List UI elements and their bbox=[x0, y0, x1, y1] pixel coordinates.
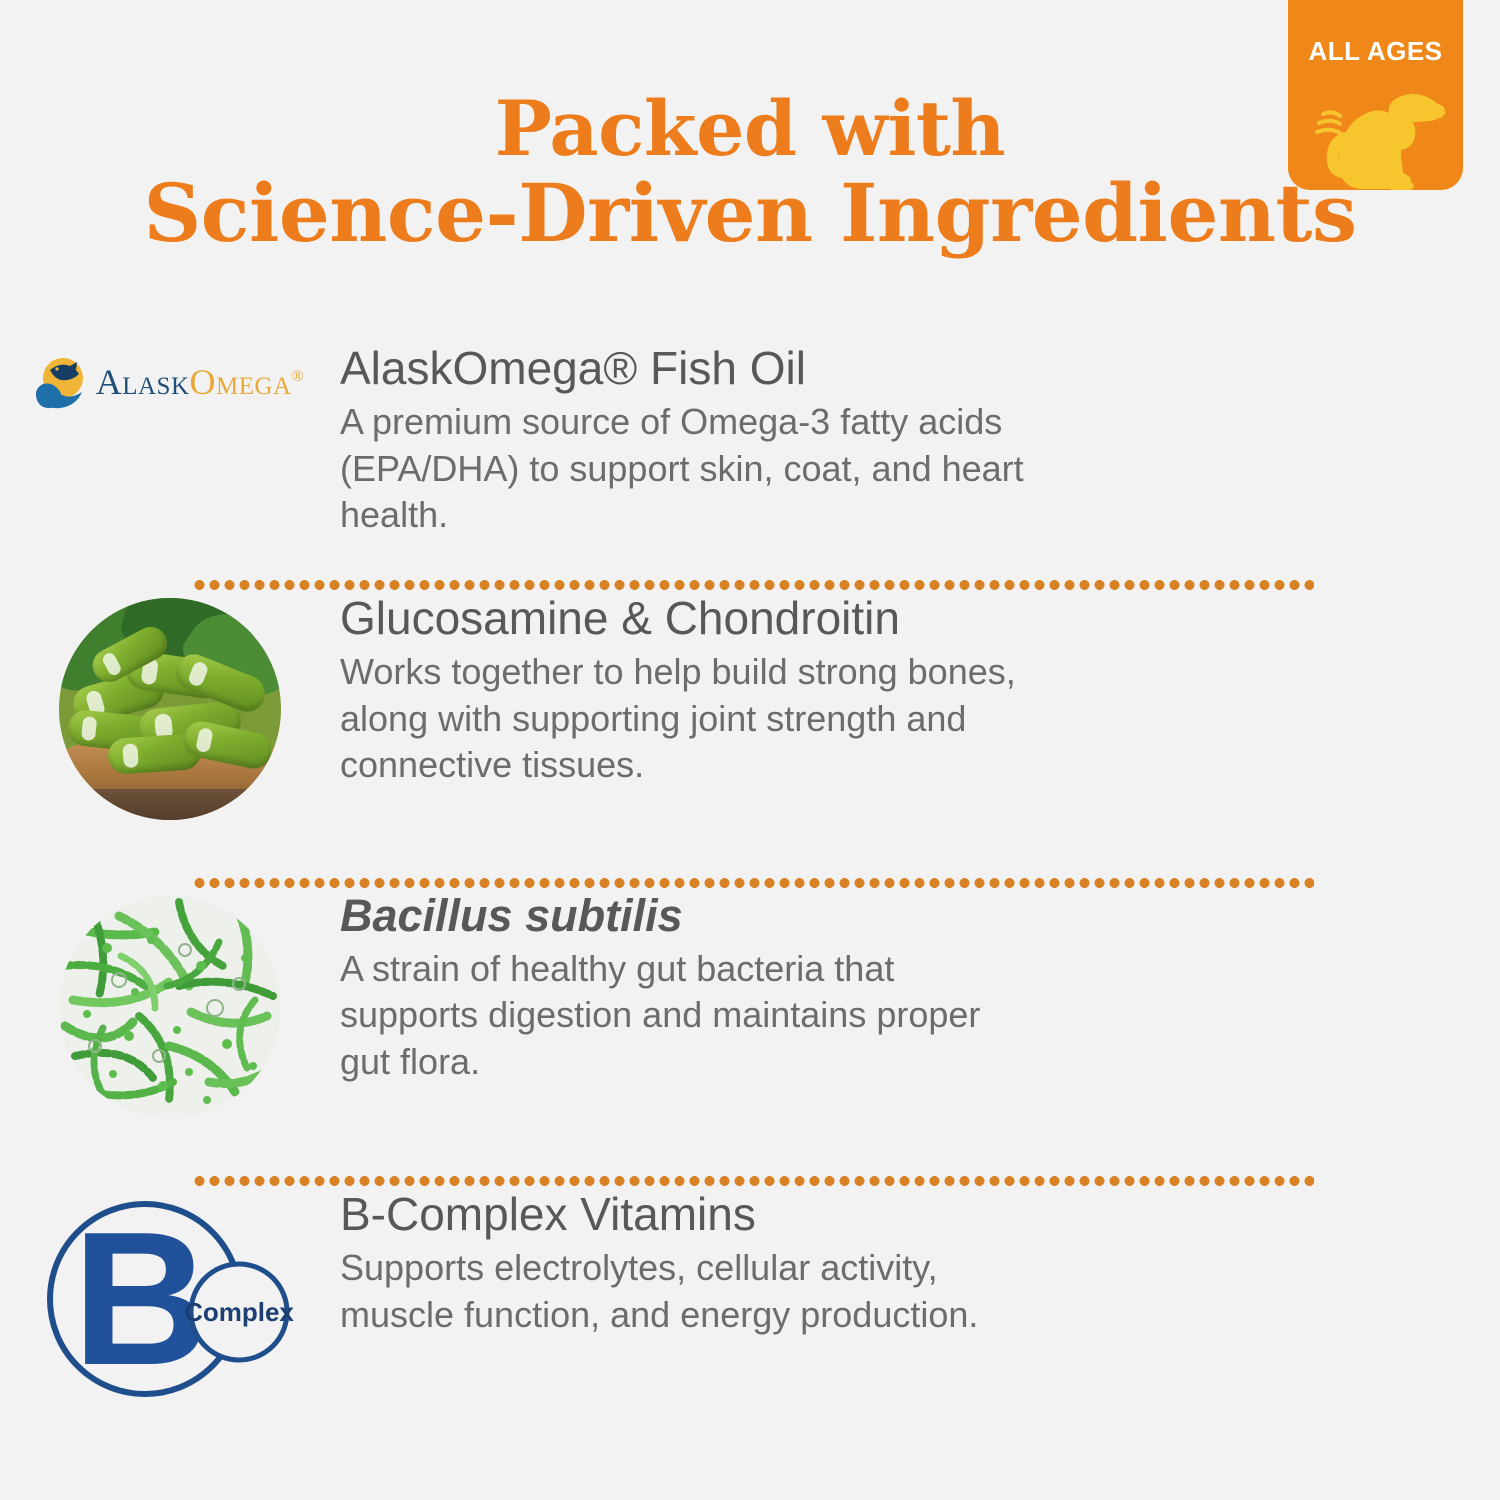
alaskomega-wordmark: AlaskOmega® bbox=[96, 364, 305, 400]
ingredient-title: Bacillus subtilis bbox=[340, 892, 1060, 940]
ingredient-text-cell: B-Complex Vitamins Supports electrolytes… bbox=[340, 1186, 1060, 1338]
divider-3 bbox=[192, 1176, 1314, 1186]
ingredient-text-cell: Glucosamine & Chondroitin Works together… bbox=[340, 590, 1060, 789]
ingredient-row-b-complex-vitamins: B Complex B-Complex Vitamins Supports el… bbox=[0, 1186, 1500, 1456]
ingredient-icon-cell bbox=[0, 888, 340, 1118]
b-complex-icon: B Complex bbox=[45, 1194, 295, 1409]
ingredient-icon-cell bbox=[0, 590, 340, 820]
fish-sun-wave-icon bbox=[36, 354, 90, 410]
ingredient-row-glucosamine-chondroitin: Glucosamine & Chondroitin Works together… bbox=[0, 590, 1500, 878]
ingredient-row-bacillus-subtilis: Bacillus subtilis A strain of healthy gu… bbox=[0, 888, 1500, 1176]
page-title-line-1: Packed with bbox=[0, 88, 1500, 170]
ingredient-title: Glucosamine & Chondroitin bbox=[340, 594, 1060, 643]
bacteria-microscope-photo bbox=[59, 896, 281, 1118]
ingredient-description: A premium source of Omega-3 fatty acids … bbox=[340, 399, 1040, 539]
divider-1 bbox=[192, 580, 1314, 590]
bacteria-rods-illustration bbox=[59, 896, 281, 1118]
ingredient-title: AlaskOmega® Fish Oil bbox=[340, 344, 1060, 393]
alaskomega-registered-mark: ® bbox=[292, 368, 305, 385]
ingredient-description: Supports electrolytes, cellular activity… bbox=[340, 1245, 1040, 1339]
ingredient-row-alaskomega-fish-oil: AlaskOmega® AlaskOmega® Fish Oil A premi… bbox=[0, 340, 1500, 580]
page-title: Packed with Science-Driven Ingredients bbox=[0, 88, 1500, 256]
ingredient-text-cell: AlaskOmega® Fish Oil A premium source of… bbox=[340, 340, 1060, 539]
ingredient-description: Works together to help build strong bone… bbox=[340, 649, 1040, 789]
green-capsules-photo bbox=[59, 598, 281, 820]
infographic-canvas: ALL AGES bbox=[0, 0, 1500, 1500]
ingredient-description: A strain of healthy gut bacteria that su… bbox=[340, 946, 1040, 1086]
alaskomega-wordmark-part2: Omega bbox=[190, 362, 292, 402]
b-complex-logo: B Complex bbox=[45, 1194, 295, 1409]
divider-2 bbox=[192, 878, 1314, 888]
ingredient-text-cell: Bacillus subtilis A strain of healthy gu… bbox=[340, 888, 1060, 1086]
ingredient-title: B-Complex Vitamins bbox=[340, 1190, 1060, 1239]
b-complex-sub-label: Complex bbox=[184, 1297, 294, 1327]
ingredient-list: AlaskOmega® AlaskOmega® Fish Oil A premi… bbox=[0, 340, 1500, 1456]
ingredient-icon-cell: B Complex bbox=[0, 1186, 340, 1409]
alaskomega-logo: AlaskOmega® bbox=[36, 354, 305, 410]
ingredient-icon-cell: AlaskOmega® bbox=[0, 340, 340, 404]
alaskomega-wordmark-part1: Alask bbox=[96, 362, 190, 402]
page-title-line-2: Science-Driven Ingredients bbox=[0, 170, 1500, 256]
badge-label: ALL AGES bbox=[1308, 38, 1442, 64]
